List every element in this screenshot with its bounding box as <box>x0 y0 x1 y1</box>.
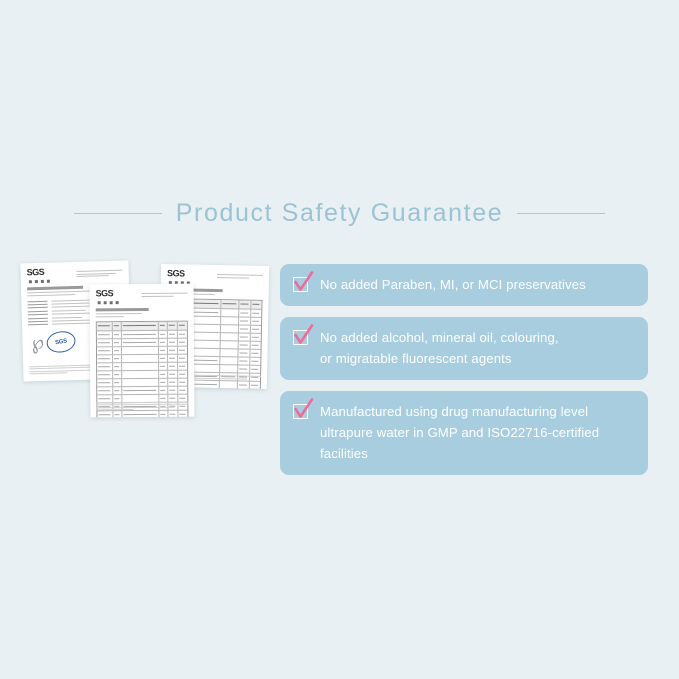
header-rule-left <box>74 213 162 214</box>
certificate-title-marks <box>98 301 188 305</box>
guarantee-text-2: No added alcohol, mineral oil, colouring… <box>320 327 559 369</box>
guarantee-item-2[interactable]: No added alcohol, mineral oil, colouring… <box>280 317 648 380</box>
product-safety-guarantee-panel: Product Safety Guarantee SGS <box>0 0 679 679</box>
guarantee-line: No added Paraben, MI, or MCI preservativ… <box>320 274 586 295</box>
guarantee-line: No added alcohol, mineral oil, colouring… <box>320 327 559 348</box>
guarantee-line: ultrapure water in GMP and ISO22716-cert… <box>320 422 599 443</box>
page-title: Product Safety Guarantee <box>176 201 503 226</box>
guarantee-text-3: Manufactured using drug manufacturing le… <box>320 401 599 464</box>
guarantee-line: Manufactured using drug manufacturing le… <box>320 401 599 422</box>
sgs-certificate-middle[interactable]: SGS <box>90 284 195 418</box>
check-mark-icon <box>293 275 310 292</box>
guarantee-item-3[interactable]: Manufactured using drug manufacturing le… <box>280 391 648 475</box>
certificate-stack: SGS <box>14 252 284 432</box>
certificate-subject-line <box>96 308 149 311</box>
certificate-subject-line <box>27 286 83 291</box>
guarantee-list: No added Paraben, MI, or MCI preservativ… <box>280 264 648 486</box>
certificate-header-meta <box>77 270 123 279</box>
certificate-header-meta <box>217 274 263 280</box>
certificate-footer <box>96 401 188 412</box>
check-mark-icon <box>293 402 310 419</box>
certificate-body: SGS <box>90 284 195 418</box>
check-mark-icon <box>293 328 310 345</box>
guarantee-line: facilities <box>320 443 599 464</box>
certificate-stamp: ℘ SGS <box>30 328 77 355</box>
guarantee-line: or migratable fluorescent agents <box>320 348 559 369</box>
guarantee-text-1: No added Paraben, MI, or MCI preservativ… <box>320 274 586 295</box>
certificate-header-meta <box>142 293 188 299</box>
sgs-seal-label: SGS <box>55 338 68 346</box>
section-header: Product Safety Guarantee <box>0 192 679 234</box>
header-rule-right <box>517 213 605 214</box>
guarantee-item-1[interactable]: No added Paraben, MI, or MCI preservativ… <box>280 264 648 306</box>
